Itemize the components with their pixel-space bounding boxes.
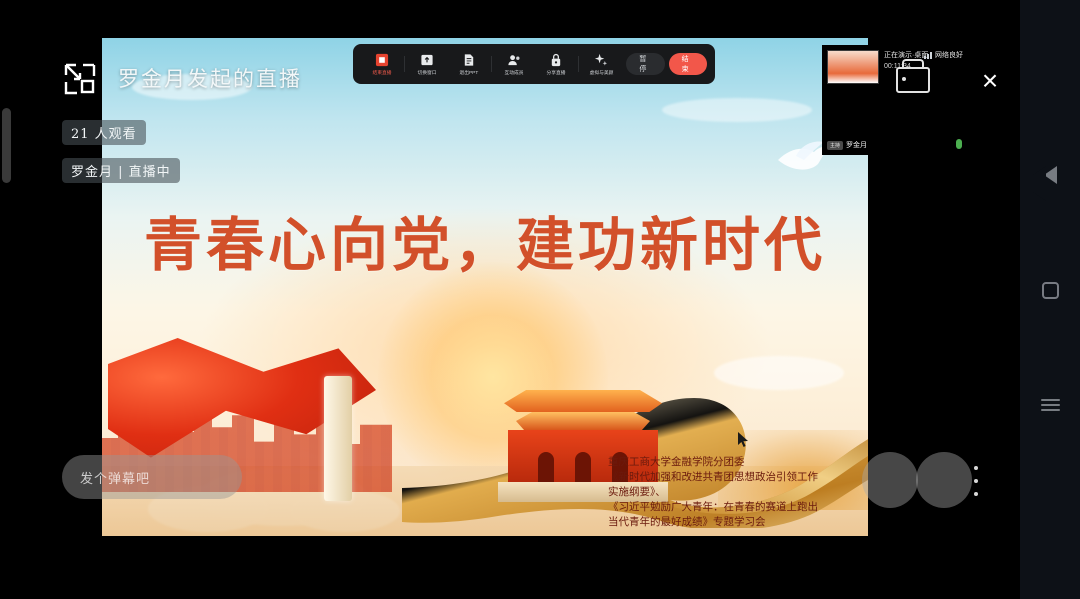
- toolbar-item-switch-window[interactable]: 切换窗口: [406, 45, 448, 83]
- toolbar-item-share-live[interactable]: 分享直播: [535, 45, 577, 83]
- pip-thumbnail: [827, 50, 879, 84]
- floating-action-button-left[interactable]: [862, 452, 918, 508]
- recents-lines-icon: [1041, 396, 1060, 414]
- slide-title: 青春心向党，建功新时代: [102, 198, 868, 282]
- toolbar-label: 退出PPT: [460, 70, 479, 76]
- toolbar-item-exit-ppt[interactable]: 退出PPT: [448, 45, 490, 83]
- footer-line: 当代青年的最好成绩》专题学习会: [608, 515, 858, 530]
- end-live-button[interactable]: 结束: [669, 53, 707, 75]
- exit-ppt-icon: [462, 53, 477, 68]
- floating-action-button-right[interactable]: [916, 452, 972, 508]
- share-live-icon: [549, 53, 564, 68]
- footer-line: 《新时代加强和改进共青团思想政治引领工作: [608, 470, 858, 485]
- footer-line: 实施纲要》、: [608, 485, 858, 500]
- network-status: 网络良好: [924, 50, 963, 60]
- pip-self-view[interactable]: 正在演示·桌面 00:11:34 网络良好 主持 罗金月: [822, 45, 968, 155]
- camera-frame-icon: [896, 67, 930, 93]
- meeting-toolbar: 结束直播 切换窗口 退出PPT 互动成员: [353, 44, 715, 84]
- network-label: 网络良好: [935, 50, 963, 60]
- stop-live-icon: [375, 53, 390, 68]
- toolbar-item-stop-live[interactable]: 结束直播: [361, 45, 403, 83]
- toolbar-item-beauty-effects[interactable]: 虚拟与美颜: [580, 45, 622, 83]
- host-status-badge: 罗金月 | 直播中: [62, 158, 180, 183]
- members-icon: [507, 53, 522, 68]
- toolbar-label: 互动成员: [505, 70, 524, 76]
- switch-window-icon: [420, 53, 435, 68]
- home-button[interactable]: [1020, 260, 1080, 320]
- back-triangle-icon: [1044, 166, 1057, 184]
- toolbar-divider: [404, 56, 405, 72]
- mouse-cursor: [738, 432, 750, 448]
- screen-root: 青春心向党，建功新时代 重庆工商大学金融学院分团委 《新时代加强和改进共青团思想…: [0, 0, 1080, 599]
- toolbar-divider: [491, 56, 492, 72]
- overflow-menu-icon[interactable]: [970, 466, 982, 496]
- footer-line: 重庆工商大学金融学院分团委: [608, 455, 858, 470]
- home-square-icon: [1042, 282, 1059, 299]
- toolbar-label: 结束直播: [373, 70, 392, 76]
- monument: [324, 376, 352, 501]
- minimize-to-pip-icon[interactable]: [63, 62, 97, 96]
- toolbar-item-members[interactable]: 互动成员: [493, 45, 535, 83]
- slide-footer-text: 重庆工商大学金融学院分团委 《新时代加强和改进共青团思想政治引领工作 实施纲要》…: [608, 455, 858, 530]
- viewer-count-badge: 21 人观看: [62, 120, 146, 145]
- pip-participant-name: 罗金月: [846, 140, 867, 150]
- pip-name-row: 主持 罗金月: [827, 140, 867, 150]
- pause-live-button[interactable]: 暂停: [626, 53, 664, 75]
- cloud: [662, 98, 812, 122]
- android-system-nav: [1020, 0, 1080, 599]
- close-icon[interactable]: ×: [972, 63, 1008, 99]
- signal-bars-icon: [924, 51, 932, 59]
- app-backdrop: 青春心向党，建功新时代 重庆工商大学金融学院分团委 《新时代加强和改进共青团思想…: [0, 0, 1020, 599]
- toolbar-label: 分享直播: [547, 70, 566, 76]
- footer-line: 《习近平勉励广大青年：在青春的赛道上跑出: [608, 500, 858, 515]
- chat-input[interactable]: 发个弹幕吧: [62, 455, 242, 499]
- recents-button[interactable]: [1020, 375, 1080, 435]
- toolbar-label: 切换窗口: [418, 70, 437, 76]
- toolbar-label: 虚拟与美颜: [589, 70, 613, 76]
- mic-active-icon: [956, 139, 962, 149]
- beauty-effects-icon: [594, 53, 609, 68]
- edge-gesture-handle[interactable]: [2, 108, 11, 183]
- live-title: 罗金月发起的直播: [118, 63, 302, 93]
- toolbar-divider: [578, 56, 579, 72]
- back-button[interactable]: [1020, 145, 1080, 205]
- host-tag: 主持: [827, 141, 843, 150]
